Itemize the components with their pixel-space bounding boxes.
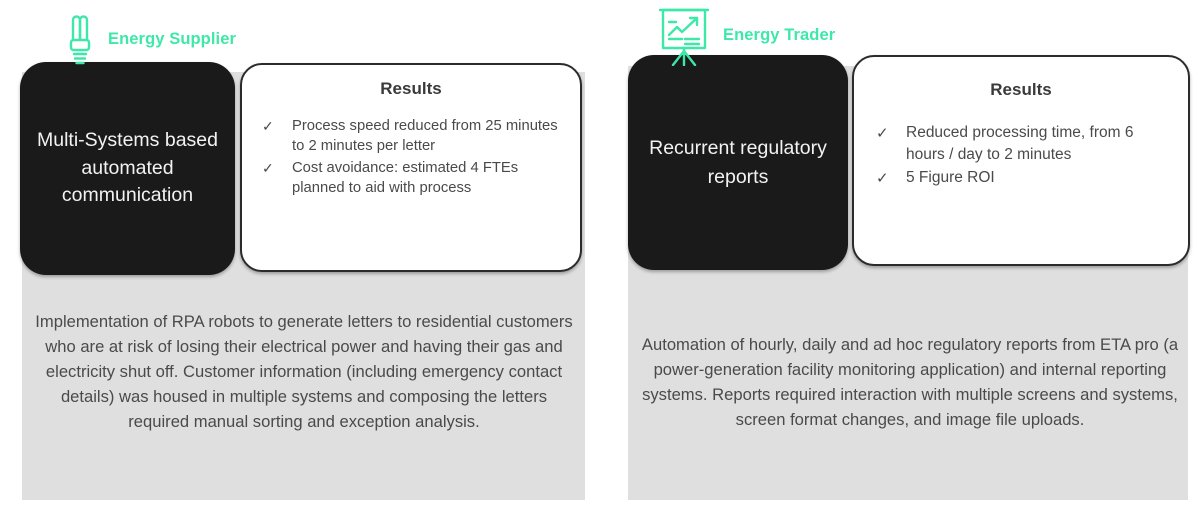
check-icon: ✓	[876, 167, 906, 189]
check-icon: ✓	[876, 122, 906, 144]
list-item: ✓ Cost avoidance: estimated 4 FTEs plann…	[262, 158, 566, 199]
results-title: Results	[854, 80, 1188, 100]
process-title-card: Multi-Systems based automated communicat…	[20, 62, 235, 275]
list-item: ✓ Process speed reduced from 25 minutes …	[262, 116, 566, 157]
case-header: Energy Supplier	[62, 10, 236, 68]
energy-saver-bulb-icon	[62, 10, 98, 68]
case-header: Energy Trader	[655, 4, 835, 66]
results-title: Results	[242, 79, 580, 99]
list-item-text: 5 Figure ROI	[906, 167, 1172, 189]
list-item: ✓ Reduced processing time, from 6 hours …	[876, 122, 1172, 166]
case-panel-energy-trader: Energy Trader Recurrent regulatory repor…	[600, 0, 1200, 511]
presentation-chart-icon	[655, 4, 713, 66]
results-card: Results ✓ Reduced processing time, from …	[852, 55, 1190, 266]
case-header-label: Energy Supplier	[108, 30, 236, 49]
check-icon: ✓	[262, 158, 292, 178]
results-bullet-list: ✓ Process speed reduced from 25 minutes …	[242, 116, 580, 199]
case-description: Automation of hourly, daily and ad hoc r…	[638, 332, 1182, 433]
case-description: Implementation of RPA robots to generate…	[30, 309, 578, 435]
process-title-text: Multi-Systems based automated communicat…	[20, 127, 235, 210]
list-item-text: Process speed reduced from 25 minutes to…	[292, 116, 566, 157]
process-title-card: Recurrent regulatory reports	[628, 55, 848, 270]
process-title-text: Recurrent regulatory reports	[628, 134, 848, 191]
results-bullet-list: ✓ Reduced processing time, from 6 hours …	[854, 122, 1188, 189]
list-item: ✓ 5 Figure ROI	[876, 167, 1172, 189]
list-item-text: Cost avoidance: estimated 4 FTEs planned…	[292, 158, 566, 199]
check-icon: ✓	[262, 116, 292, 136]
results-card: Results ✓ Process speed reduced from 25 …	[240, 63, 582, 272]
list-item-text: Reduced processing time, from 6 hours / …	[906, 122, 1172, 166]
case-panel-energy-supplier: Energy Supplier Multi-Systems based auto…	[0, 0, 600, 511]
case-header-label: Energy Trader	[723, 26, 835, 45]
